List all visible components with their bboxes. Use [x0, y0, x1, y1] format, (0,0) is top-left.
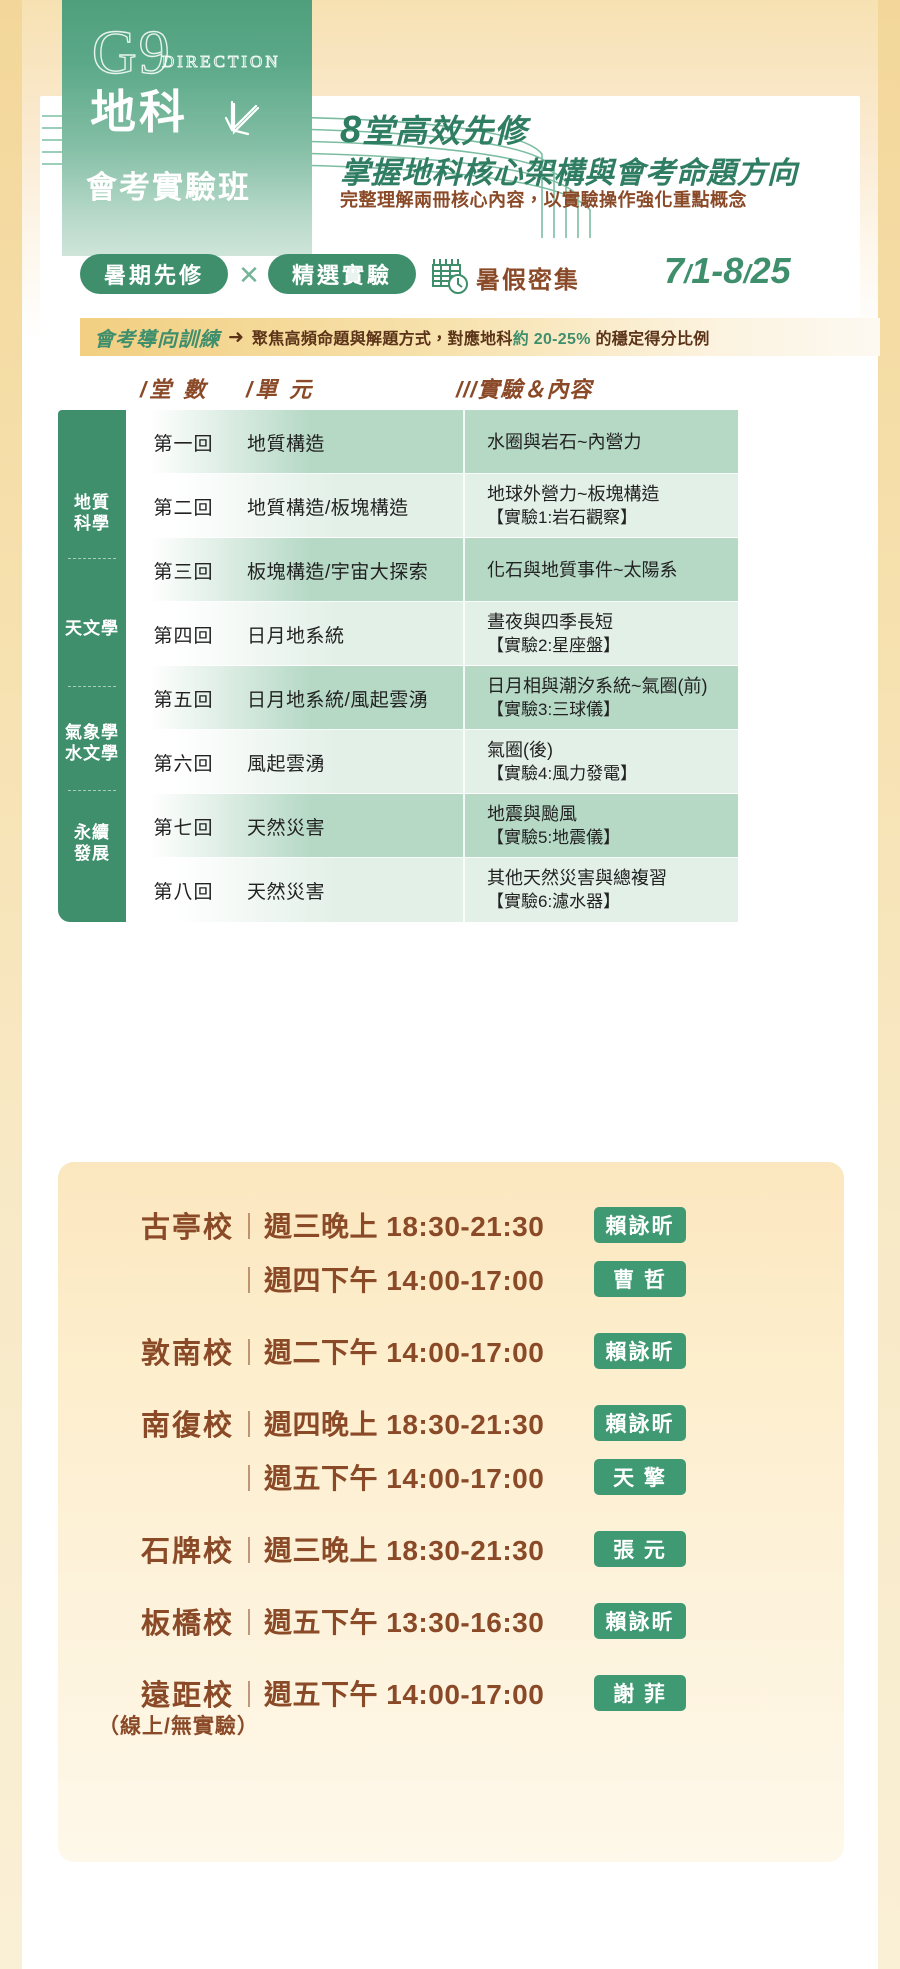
category-divider-2: [68, 686, 116, 687]
strip-text-part2: 的穩定得分比例: [591, 331, 710, 348]
divider-bar: ｜: [234, 1459, 264, 1496]
cell-lesson: 第八回: [126, 877, 241, 904]
cell-lesson: 第七回: [126, 813, 241, 840]
strip-text-part1: 聚焦高頻命題與解題方式，對應地科: [252, 331, 513, 348]
content-line-1: 日月相與潮汐系統~氣圈(前): [487, 674, 738, 698]
cell-content: 地震與颱風 【實驗5:地震儀】: [463, 794, 738, 858]
exam-oriented-strip: 會考導向訓練 ➜ 聚焦高頻命題與解題方式，對應地科約 20-25% 的穩定得分比…: [80, 318, 880, 356]
session-time: 週五下午 13:30-16:30: [264, 1601, 594, 1641]
strip-arrow-icon: ➜: [228, 326, 244, 349]
session-time: 週二下午 14:00-17:00: [264, 1331, 594, 1371]
cell-lesson: 第一回: [126, 429, 241, 456]
calendar-clock-icon: [430, 254, 472, 296]
logo-word: DIRECTION: [162, 52, 281, 72]
teacher-badge[interactable]: 賴詠昕: [594, 1333, 686, 1369]
divider-bar: ｜: [234, 1261, 264, 1298]
schedule-line: 敦南校 ｜ 週二下午 14:00-17:00 賴詠昕: [58, 1324, 844, 1378]
cell-unit: 天然災害: [241, 813, 463, 840]
cell-unit: 地質構造/板塊構造: [241, 493, 463, 520]
table-row: 第三回 板塊構造/宇宙大探索 化石與地質事件~太陽系: [126, 538, 738, 602]
cell-unit: 日月地系統: [241, 621, 463, 648]
teacher-badge[interactable]: 曹 哲: [594, 1261, 686, 1297]
divider-bar: ｜: [234, 1675, 264, 1712]
schedule-group: 古亭校 ｜ 週三晚上 18:30-21:30 賴詠昕 ｜ 週四下午 14:00-…: [58, 1198, 844, 1306]
content-line-2: 【實驗1:岩石觀察】: [487, 507, 738, 530]
session-time: 週四晚上 18:30-21:30: [264, 1403, 594, 1443]
cell-lesson: 第二回: [126, 493, 241, 520]
strip-accent: 約 20-25%: [513, 331, 591, 348]
divider-bar: ｜: [234, 1333, 264, 1370]
date-month-2: 8: [723, 250, 743, 291]
table-row: 第二回 地質構造/板塊構造 地球外營力~板塊構造 【實驗1:岩石觀察】: [126, 474, 738, 538]
headline-line1-rest: 堂高效先修: [362, 113, 527, 149]
campus-name: 南復校: [94, 1402, 234, 1444]
cell-content: 氣圈(後) 【實驗4:風力發電】: [463, 730, 738, 794]
date-day-1: 1: [691, 250, 711, 291]
content-line-2: 【實驗2:星座盤】: [487, 635, 738, 658]
col-header-lesson: /堂 數: [140, 372, 208, 404]
cell-unit: 板塊構造/宇宙大探索: [241, 557, 463, 584]
session-time: 週四下午 14:00-17:00: [264, 1259, 594, 1299]
strip-text: 聚焦高頻命題與解題方式，對應地科約 20-25% 的穩定得分比例: [252, 325, 710, 349]
cell-content: 水圈與岩石~內營力: [463, 410, 738, 474]
date-sep-2: /: [743, 259, 750, 289]
cell-lesson: 第三回: [126, 557, 241, 584]
cell-content: 日月相與潮汐系統~氣圈(前) 【實驗3:三球儀】: [463, 666, 738, 730]
intensive-label: 暑假密集: [476, 260, 580, 295]
right-gold-rail: [878, 0, 900, 1969]
online-note: （線上/無實驗）: [58, 1710, 844, 1740]
table-rows: 第一回 地質構造 水圈與岩石~內營力 第二回 地質構造/板塊構造 地球外營力~板…: [126, 410, 738, 922]
divider-bar: ｜: [234, 1531, 264, 1568]
schedule-group: 板橋校 ｜ 週五下午 13:30-16:30 賴詠昕: [58, 1594, 844, 1648]
cell-lesson: 第五回: [126, 685, 241, 712]
brand-badge-block: G9 DIRECTION 地科 會考實驗班: [62, 0, 312, 256]
pill-summer-prep[interactable]: 暑期先修: [80, 254, 228, 294]
table-row: 第四回 日月地系統 晝夜與四季長短 【實驗2:星座盤】: [126, 602, 738, 666]
campus-name: 遠距校: [94, 1672, 234, 1714]
session-time: 週五下午 14:00-17:00: [264, 1673, 594, 1713]
cell-unit: 地質構造: [241, 429, 463, 456]
session-time: 週五下午 14:00-17:00: [264, 1457, 594, 1497]
schedule-line: 板橋校 ｜ 週五下午 13:30-16:30 賴詠昕: [58, 1594, 844, 1648]
campus-name: 石牌校: [94, 1528, 234, 1570]
content-line-2: 【實驗4:風力發電】: [487, 763, 738, 786]
logo-letters: G9: [92, 22, 172, 84]
feature-pill-row: 暑期先修 ✕ 精選實驗 暑假密集 7/1-8/25: [60, 254, 860, 306]
cell-content: 晝夜與四季長短 【實驗2:星座盤】: [463, 602, 738, 666]
campus-name: 敦南校: [94, 1330, 234, 1372]
cell-content: 地球外營力~板塊構造 【實驗1:岩石觀察】: [463, 474, 738, 538]
category-sustainability: 永續發展: [58, 822, 126, 865]
table-row: 第八回 天然災害 其他天然災害與總複習 【實驗6:濾水器】: [126, 858, 738, 922]
category-meteorology: 氣象學水文學: [58, 722, 126, 765]
table-row: 第一回 地質構造 水圈與岩石~內營力: [126, 410, 738, 474]
cell-unit: 風起雲湧: [241, 749, 463, 776]
teacher-badge[interactable]: 賴詠昕: [594, 1603, 686, 1639]
cell-lesson: 第六回: [126, 749, 241, 776]
content-line-1: 氣圈(後): [487, 738, 738, 762]
col-header-unit: /單 元: [246, 372, 314, 404]
cell-unit: 日月地系統/風起雲湧: [241, 685, 463, 712]
category-column: 地質科學 天文學 氣象學水文學 永續發展: [58, 410, 126, 922]
table-body: 地質科學 天文學 氣象學水文學 永續發展 第一回 地質構造 水圈與岩石~內營力: [58, 410, 738, 922]
cell-lesson: 第四回: [126, 621, 241, 648]
schedule-line: 古亭校 ｜ 週三晚上 18:30-21:30 賴詠昕: [58, 1198, 844, 1252]
arrow-down-right-icon: [222, 96, 266, 144]
schedule-line: 石牌校 ｜ 週三晚上 18:30-21:30 張 元: [58, 1522, 844, 1576]
teacher-badge[interactable]: 天 擎: [594, 1459, 686, 1495]
teacher-badge[interactable]: 張 元: [594, 1531, 686, 1567]
schedule-line: 南復校 ｜ 週四晚上 18:30-21:30 賴詠昕: [58, 1396, 844, 1450]
divider-bar: ｜: [234, 1603, 264, 1640]
content-line-1: 其他天然災害與總複習: [487, 866, 738, 890]
date-month-1: 7: [664, 250, 684, 291]
subject-title: 地科: [90, 88, 188, 136]
cell-content: 化石與地質事件~太陽系: [463, 538, 738, 602]
schedule-group: 遠距校 ｜ 週五下午 14:00-17:00 謝 菲 （線上/無實驗）: [58, 1666, 844, 1740]
category-geology: 地質科學: [58, 492, 126, 535]
table-row: 第六回 風起雲湧 氣圈(後) 【實驗4:風力發電】: [126, 730, 738, 794]
schedule-group: 石牌校 ｜ 週三晚上 18:30-21:30 張 元: [58, 1522, 844, 1576]
class-name: 會考實驗班: [86, 162, 251, 207]
session-time: 週三晚上 18:30-21:30: [264, 1529, 594, 1569]
campus-name: 板橋校: [94, 1600, 234, 1642]
left-gold-rail: [0, 0, 22, 1969]
divider-bar: ｜: [234, 1207, 264, 1244]
content-line-2: 【實驗5:地震儀】: [487, 827, 738, 850]
strip-label: 會考導向訓練: [94, 323, 220, 352]
date-range: 7/1-8/25: [664, 250, 791, 292]
cell-content: 其他天然災害與總複習 【實驗6:濾水器】: [463, 858, 738, 922]
category-divider-1: [68, 558, 116, 559]
session-time: 週三晚上 18:30-21:30: [264, 1205, 594, 1245]
date-day-2: 25: [751, 250, 791, 291]
col-header-content: ///實驗＆內容: [456, 372, 592, 404]
poster-page: G9 DIRECTION 地科 會考實驗班 8堂高效先修 掌握地科核心架構與會考…: [0, 0, 900, 1969]
cross-icon: ✕: [236, 262, 262, 288]
campus-name: 古亭校: [94, 1204, 234, 1246]
category-divider-3: [68, 790, 116, 791]
headline-number: 8: [340, 109, 362, 151]
schedule-line: ｜ 週四下午 14:00-17:00 曹 哲: [58, 1252, 844, 1306]
schedule-line: ｜ 週五下午 14:00-17:00 天 擎: [58, 1450, 844, 1504]
table-row: 第五回 日月地系統/風起雲湧 日月相與潮汐系統~氣圈(前) 【實驗3:三球儀】: [126, 666, 738, 730]
content-line-2: 【實驗3:三球儀】: [487, 699, 738, 722]
divider-bar: ｜: [234, 1405, 264, 1442]
date-dash: -: [711, 250, 723, 291]
curriculum-table: /堂 數 /單 元 ///實驗＆內容 地質科學 天文學 氣象學水文學 永續發展 …: [58, 372, 738, 922]
content-line-2: 【實驗6:濾水器】: [487, 891, 738, 914]
table-row: 第七回 天然災害 地震與颱風 【實驗5:地震儀】: [126, 794, 738, 858]
pill-selected-experiments[interactable]: 精選實驗: [268, 254, 416, 294]
headline-line3: 完整理解兩冊核心內容，以實驗操作強化重點概念: [340, 186, 747, 212]
schedule-group: 南復校 ｜ 週四晚上 18:30-21:30 賴詠昕 ｜ 週五下午 14:00-…: [58, 1396, 844, 1504]
teacher-badge[interactable]: 謝 菲: [594, 1675, 686, 1711]
content-line-1: 化石與地質事件~太陽系: [487, 558, 738, 582]
content-line-1: 地震與颱風: [487, 802, 738, 826]
content-line-1: 晝夜與四季長短: [487, 610, 738, 634]
table-header-row: /堂 數 /單 元 ///實驗＆內容: [58, 372, 738, 406]
category-astronomy: 天文學: [58, 618, 126, 639]
cell-unit: 天然災害: [241, 877, 463, 904]
teacher-badge[interactable]: 賴詠昕: [594, 1405, 686, 1441]
headline-line1: 8堂高效先修: [340, 106, 527, 152]
content-line-1: 地球外營力~板塊構造: [487, 482, 738, 506]
content-line-1: 水圈與岩石~內營力: [487, 430, 738, 454]
class-schedule-card: 古亭校 ｜ 週三晚上 18:30-21:30 賴詠昕 ｜ 週四下午 14:00-…: [58, 1162, 844, 1862]
teacher-badge[interactable]: 賴詠昕: [594, 1207, 686, 1243]
schedule-group: 敦南校 ｜ 週二下午 14:00-17:00 賴詠昕: [58, 1324, 844, 1378]
poster-inner: G9 DIRECTION 地科 會考實驗班 8堂高效先修 掌握地科核心架構與會考…: [22, 0, 878, 1969]
